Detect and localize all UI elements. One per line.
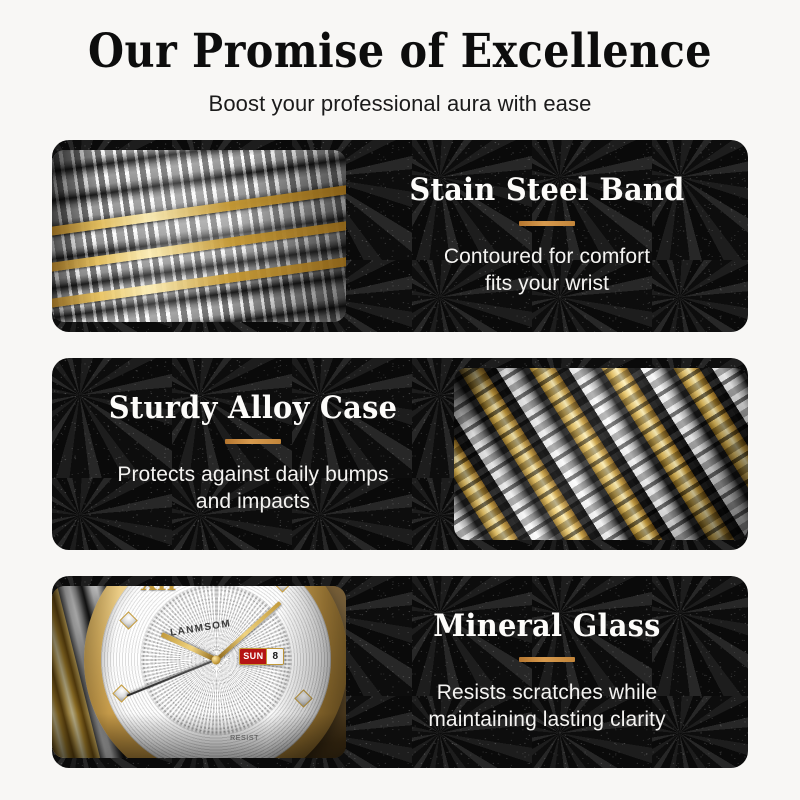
feature-description-line: Resists scratches while <box>437 681 658 704</box>
feature-description-line: Protects against daily bumps <box>117 463 388 486</box>
feature-description: Contoured for comfort fits your wrist <box>360 243 734 298</box>
watch-center-pin <box>212 655 221 664</box>
feature-card-sturdy-alloy-case[interactable]: Sturdy Alloy Case Protects against daily… <box>52 358 748 550</box>
bracelet-links-metal-texture <box>454 368 748 540</box>
watch-diamond-marker <box>119 611 137 629</box>
watch-diamond-marker <box>294 689 312 707</box>
watch-day-date-window: SUN 8 <box>239 648 284 665</box>
feature-title: Sturdy Alloy Case <box>79 392 427 425</box>
feature-card-text: Stain Steel Band Contoured for comfort f… <box>346 174 748 297</box>
feature-card-list: Stain Steel Band Contoured for comfort f… <box>52 140 748 768</box>
watch-dial-scene: XII LANMSOM SUN 8 <box>52 586 346 758</box>
feature-card-mineral-glass[interactable]: XII LANMSOM SUN 8 <box>52 576 748 768</box>
feature-description: Resists scratches while maintaining last… <box>360 679 734 734</box>
page-header: Our Promise of Excellence Boost your pro… <box>0 0 800 116</box>
feature-description-line: Contoured for comfort <box>444 245 650 268</box>
page-subtitle: Boost your professional aura with ease <box>0 92 800 116</box>
feature-card-text: Mineral Glass Resists scratches while ma… <box>346 610 748 733</box>
feature-card-text: Sturdy Alloy Case Protects against daily… <box>52 392 454 515</box>
promo-page: Our Promise of Excellence Boost your pro… <box>0 0 800 800</box>
feature-description-line: fits your wrist <box>485 272 609 295</box>
watch-dial-photo: XII LANMSOM SUN 8 <box>52 586 346 758</box>
feature-title: Mineral Glass <box>373 610 721 643</box>
watch-roman-numeral: XII <box>141 586 177 595</box>
gold-divider <box>519 221 575 226</box>
watch-gold-case: XII LANMSOM SUN 8 <box>84 586 346 758</box>
feature-card-stain-steel-band[interactable]: Stain Steel Band Contoured for comfort f… <box>52 140 748 332</box>
gold-divider <box>225 439 281 444</box>
feature-description-line: maintaining lasting clarity <box>428 708 665 731</box>
watch-water-resist-text: RESIST <box>230 735 259 742</box>
watch-day-value: SUN <box>240 649 266 664</box>
watch-diamond-marker <box>273 586 291 593</box>
watch-dial: XII LANMSOM SUN 8 <box>101 586 331 758</box>
watch-bracelet-links-photo <box>454 368 748 540</box>
feature-description: Protects against daily bumps and impacts <box>66 461 440 516</box>
feature-description-line: and impacts <box>196 490 310 513</box>
watch-bracelet-clasp-photo <box>52 150 346 322</box>
page-title: Our Promise of Excellence <box>48 28 752 75</box>
feature-title: Stain Steel Band <box>373 174 721 207</box>
gold-divider <box>519 657 575 662</box>
watch-date-value: 8 <box>266 649 283 664</box>
